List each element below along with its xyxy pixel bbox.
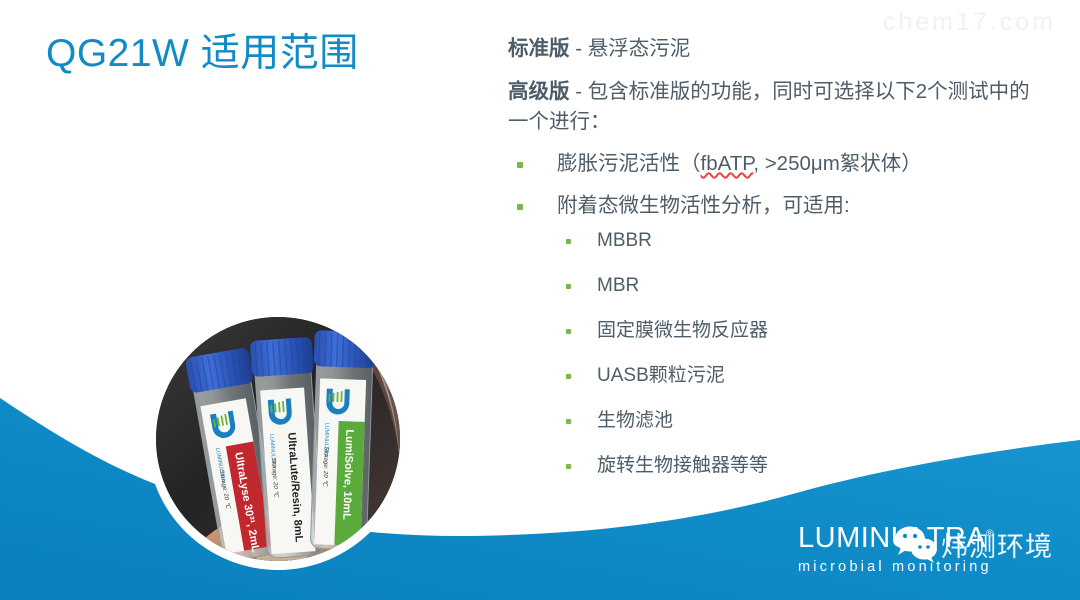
bullet-dot-icon xyxy=(566,374,571,379)
paragraph-advanced-lead: 高级版 xyxy=(508,80,570,103)
paragraph-standard-lead: 标准版 xyxy=(508,37,570,60)
sub-bullet-label: 固定膜微生物反应器 xyxy=(597,320,768,341)
bullet-dot-icon xyxy=(566,284,571,289)
sub-bullet-biofilter: 生物滤池 xyxy=(557,408,1048,434)
bullet-item-attached-biomass: 附着态微生物活性分析，可适用: MBBR MBR 固定膜微生物反应器 xyxy=(508,192,1048,479)
bullet-item-swollen-sludge: 膨胀污泥活性（fbATP, >250μm絮状体） xyxy=(508,150,1048,178)
chem17-watermark: chem17.com xyxy=(883,8,1056,37)
bullet-dot-icon xyxy=(566,239,571,244)
bullet-dot-icon xyxy=(566,464,571,469)
bullet-dot-icon xyxy=(566,419,571,424)
bullet-text-attached: 附着态微生物活性分析，可适用: xyxy=(557,194,850,217)
sub-bullet-label: MBBR xyxy=(597,230,652,251)
sub-bullet-mbr: MBR xyxy=(557,273,1048,299)
paragraph-advanced: 高级版 - 包含标准版的功能，同时可选择以下2个测试中的一个进行： xyxy=(508,77,1048,137)
misspelled-term-fbatp: fbATP xyxy=(701,152,754,175)
reagent-vials-photo: LUMINULTRA Storage: 20 ℃ UltraLyse 30³¹,… xyxy=(156,317,400,561)
sub-bullet-rbc: 旋转生物接触器等等 xyxy=(557,453,1048,479)
slide-canvas: QG21W 适用范围 chem17.com 标准版 - 悬浮态污泥 高级版 - … xyxy=(0,0,1080,600)
content-column: 标准版 - 悬浮态污泥 高级版 - 包含标准版的功能，同时可选择以下2个测试中的… xyxy=(508,34,1048,498)
bullet-dot-icon xyxy=(517,162,523,168)
paragraph-advanced-rest: - 包含标准版的功能，同时可选择以下2个测试中的一个进行： xyxy=(508,80,1030,133)
wechat-watermark-label: 炜测环境 xyxy=(941,525,1053,564)
page-title: QG21W 适用范围 xyxy=(46,22,359,78)
sub-bullet-label: UASB颗粒污泥 xyxy=(597,365,725,386)
wechat-icon xyxy=(893,524,939,564)
paragraph-standard-rest: - 悬浮态污泥 xyxy=(570,37,691,60)
sub-bullet-label: 生物滤池 xyxy=(597,410,673,431)
bullet-text-pre: 膨胀污泥活性（ xyxy=(557,152,701,175)
bullet-dot-icon xyxy=(517,204,523,210)
sub-bullet-fixed-film: 固定膜微生物反应器 xyxy=(557,318,1048,344)
vials-illustration: LUMINULTRA Storage: 20 ℃ UltraLyse 30³¹,… xyxy=(156,317,400,561)
bullet-list-level2: MBBR MBR 固定膜微生物反应器 UASB颗粒污泥 xyxy=(557,228,1048,479)
svg-text:Storage: 20 ℃: Storage: 20 ℃ xyxy=(321,446,329,487)
sub-bullet-label: MBR xyxy=(597,275,639,296)
paragraph-standard: 标准版 - 悬浮态污泥 xyxy=(508,34,1048,64)
bullet-dot-icon xyxy=(566,329,571,334)
wechat-watermark: 炜测环境 xyxy=(893,524,1053,564)
sub-bullet-uasb: UASB颗粒污泥 xyxy=(557,363,1048,389)
bullet-text-post: , >250μm絮状体） xyxy=(753,152,921,175)
sub-bullet-mbbr: MBBR xyxy=(557,228,1048,254)
sub-bullet-label: 旋转生物接触器等等 xyxy=(597,455,768,476)
bullet-list-level1: 膨胀污泥活性（fbATP, >250μm絮状体） 附着态微生物活性分析，可适用:… xyxy=(508,150,1048,479)
